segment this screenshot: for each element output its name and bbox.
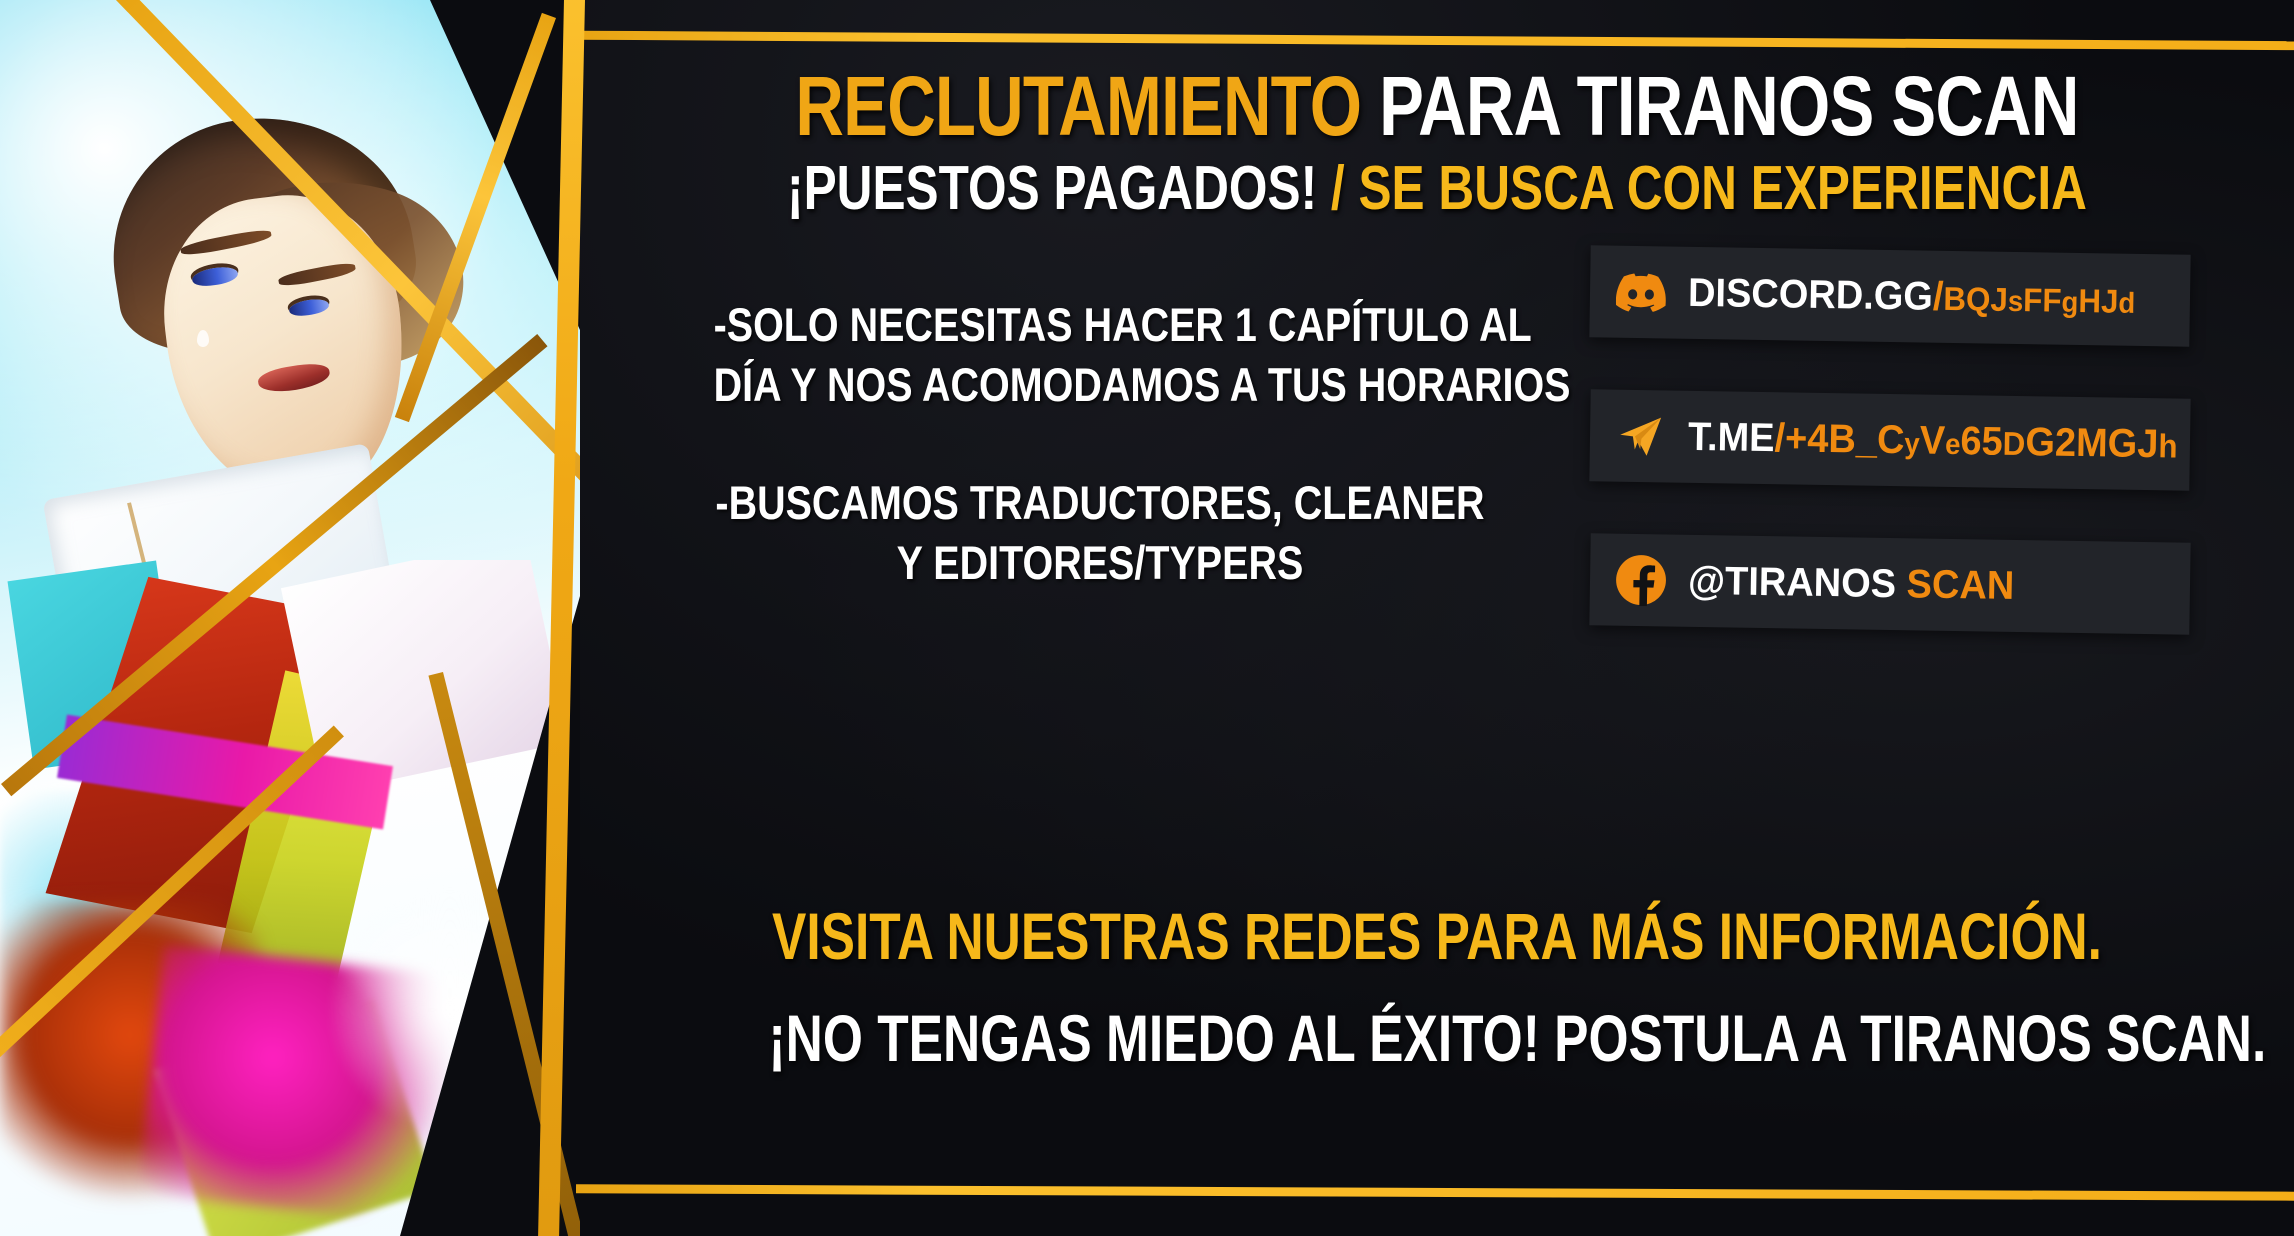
bullet-roles-line1: -BUSCAMOS TRADUCTORES, CLEANER xyxy=(714,473,1487,533)
content-panel: RECLUTAMIENTO PARA TIRANOS SCAN ¡PUESTOS… xyxy=(580,0,2294,1236)
bullet-schedule: -SOLO NECESITAS HACER 1 CAPÍTULO AL DÍA … xyxy=(714,295,1487,415)
telegram-contact-card[interactable]: T.ME/+4B_CyVe65DG2MGJh xyxy=(1589,389,2190,490)
telegram-separator: /+4B_ xyxy=(1774,416,1877,462)
gold-rule-bottom xyxy=(576,1184,2294,1201)
telegram-code-8: h xyxy=(2158,427,2178,464)
telegram-code-7: G2MGJ xyxy=(2025,420,2159,466)
facebook-handle: @TIRANOS xyxy=(1688,558,1897,605)
discord-contact-card[interactable]: DISCORD.GG/BQJsFFgHJd xyxy=(1589,245,2190,346)
discord-code-2: s xyxy=(2008,285,2024,317)
cta-visit-networks: VISITA NUESTRAS REDES PARA MÁS INFORMACI… xyxy=(769,898,2106,974)
telegram-code-2: y xyxy=(1904,428,1920,460)
facebook-icon xyxy=(1614,553,1669,608)
page-subtitle: ¡PUESTOS PAGADOS! / SE BUSCA CON EXPERIE… xyxy=(751,158,2122,220)
contact-cards: DISCORD.GG/BQJsFFgHJd T.ME/+4B_CyVe65DG2… xyxy=(1590,250,2190,682)
telegram-link-text: T.ME/+4B_CyVe65DG2MGJh xyxy=(1688,414,2178,467)
title-highlight: RECLUTAMIENTO xyxy=(795,59,1361,153)
discord-link-text: DISCORD.GG/BQJsFFgHJd xyxy=(1688,270,2136,322)
discord-code-3: FF xyxy=(2023,281,2062,319)
bullet-schedule-line1: -SOLO NECESITAS HACER 1 CAPÍTULO AL xyxy=(714,295,1487,355)
discord-code-4: g xyxy=(2061,286,2078,318)
facebook-handle-text: @TIRANOS SCAN xyxy=(1688,558,2015,608)
subtitle-paid: ¡PUESTOS PAGADOS! xyxy=(787,154,1331,223)
discord-code-6: d xyxy=(2118,287,2135,319)
telegram-domain: T.ME xyxy=(1688,414,1775,459)
title-rest: PARA TIRANOS SCAN xyxy=(1361,59,2078,153)
subtitle-experience: / SE BUSCA CON EXPERIENCIA xyxy=(1331,154,2087,223)
discord-code-1: BQJ xyxy=(1943,279,2008,317)
telegram-code-4: e xyxy=(1945,428,1961,460)
facebook-contact-card[interactable]: @TIRANOS SCAN xyxy=(1589,533,2190,634)
telegram-icon xyxy=(1614,409,1669,464)
page-title: RECLUTAMIENTO PARA TIRANOS SCAN xyxy=(751,64,2122,148)
bullet-schedule-line2: DÍA Y NOS ACOMODAMOS A TUS HORARIOS xyxy=(714,355,1487,415)
gold-rule-top xyxy=(576,31,2294,51)
requirements-list: -SOLO NECESITAS HACER 1 CAPÍTULO AL DÍA … xyxy=(640,295,1560,594)
bullet-roles: -BUSCAMOS TRADUCTORES, CLEANER Y EDITORE… xyxy=(714,473,1487,593)
telegram-code-6: D xyxy=(2002,424,2025,461)
discord-icon xyxy=(1614,265,1669,320)
telegram-code-5: 65 xyxy=(1960,419,2003,464)
telegram-code-3: V xyxy=(1919,418,1945,462)
discord-domain: DISCORD.GG xyxy=(1688,270,1934,318)
facebook-handle-accent: SCAN xyxy=(1906,562,2014,608)
artwork-panel xyxy=(0,0,580,1236)
cta-apply: ¡NO TENGAS MIEDO AL ÉXITO! POSTULA A TIR… xyxy=(769,1000,2106,1076)
discord-code-5: HJ xyxy=(2078,281,2119,319)
character-sweat-drop xyxy=(197,330,209,347)
discord-separator: / xyxy=(1933,274,1944,318)
recruitment-banner: RECLUTAMIENTO PARA TIRANOS SCAN ¡PUESTOS… xyxy=(0,0,2294,1236)
bullet-roles-line2: Y EDITORES/TYPERS xyxy=(714,533,1487,593)
telegram-code-1: C xyxy=(1877,417,1905,461)
